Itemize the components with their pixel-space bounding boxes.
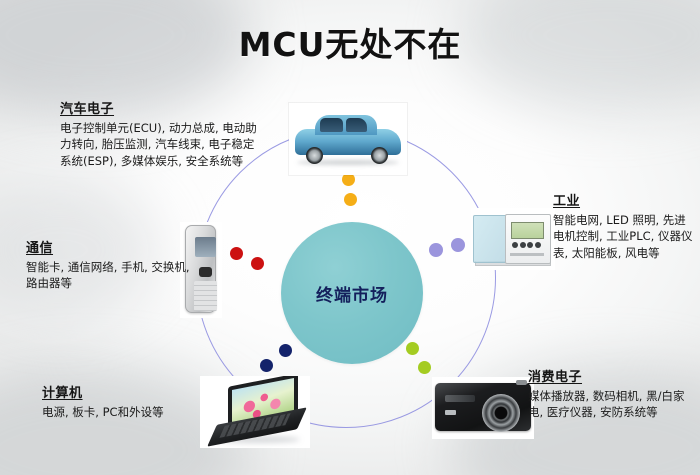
car-window-rear <box>346 118 367 132</box>
car-wheel-front <box>306 147 323 164</box>
dot-orange-2 <box>344 193 357 206</box>
phone-keypad <box>194 281 217 311</box>
controller-button-3 <box>527 242 533 248</box>
dot-red-1 <box>230 247 243 260</box>
controller-button-row <box>512 242 541 248</box>
camera-body <box>435 383 531 431</box>
dot-navy-2 <box>260 359 273 372</box>
camera-shutter-button <box>516 380 527 385</box>
car-photo <box>289 103 407 175</box>
segment-consumer-body: 媒体播放器, 数码相机, 黑/白家电, 医疗仪器, 安防系统等 <box>528 388 693 421</box>
dot-green-1 <box>406 342 419 355</box>
center-hub: 终端市场 <box>281 222 423 364</box>
segment-automotive-heading: 汽车电子 <box>60 98 265 117</box>
segment-industry: 工业 智能电网, LED 照明, 先进电机控制, 工业PLC, 仪器仪表, 太阳… <box>553 190 693 261</box>
segment-computer-heading: 计算机 <box>42 382 222 401</box>
camera-top-strip <box>445 395 475 402</box>
controller-clear-cover <box>473 215 509 263</box>
phone-screen <box>195 237 216 257</box>
industrial-controller-photo <box>471 208 555 270</box>
phone-navigation-pad <box>199 267 212 277</box>
digital-camera-photo <box>432 377 534 439</box>
dot-purple-1 <box>429 243 443 257</box>
segment-computer-body: 电源, 板卡, PC和外设等 <box>42 404 222 420</box>
controller-button-4 <box>535 242 541 248</box>
dot-navy-1 <box>279 344 292 357</box>
segment-industry-heading: 工业 <box>553 190 693 209</box>
segment-communications: 通信 智能卡, 通信网络, 手机, 交换机, 路由器等 <box>26 237 191 292</box>
camera-lens <box>482 394 520 432</box>
segment-industry-body: 智能电网, LED 照明, 先进电机控制, 工业PLC, 仪器仪表, 太阳能板,… <box>553 212 693 261</box>
controller-lcd-display <box>511 222 544 239</box>
slide-canvas: MCU无处不在 终端市场 <box>0 0 700 475</box>
camera-flash <box>445 410 456 415</box>
segment-automotive-body: 电子控制单元(ECU), 动力总成, 电动助力转向, 胎压监测, 汽车线束, 电… <box>60 120 265 169</box>
segment-consumer-heading: 消费电子 <box>528 366 693 385</box>
dot-green-2 <box>418 361 431 374</box>
controller-nameplate <box>510 253 544 256</box>
controller-button-1 <box>512 242 518 248</box>
car-wheel-rear <box>371 147 388 164</box>
segment-communications-heading: 通信 <box>26 237 191 256</box>
segment-communications-body: 智能卡, 通信网络, 手机, 交换机, 路由器等 <box>26 259 191 292</box>
slide-title: MCU无处不在 <box>0 18 700 66</box>
car-window-front <box>320 118 343 132</box>
center-hub-label: 终端市场 <box>316 281 388 306</box>
segment-consumer: 消费电子 媒体播放器, 数码相机, 黑/白家电, 医疗仪器, 安防系统等 <box>528 366 693 421</box>
controller-button-2 <box>520 242 526 248</box>
segment-automotive: 汽车电子 电子控制单元(ECU), 动力总成, 电动助力转向, 胎压监测, 汽车… <box>60 98 265 169</box>
segment-computer: 计算机 电源, 板卡, PC和外设等 <box>42 382 222 420</box>
dot-purple-2 <box>451 238 465 252</box>
dot-red-2 <box>251 257 264 270</box>
